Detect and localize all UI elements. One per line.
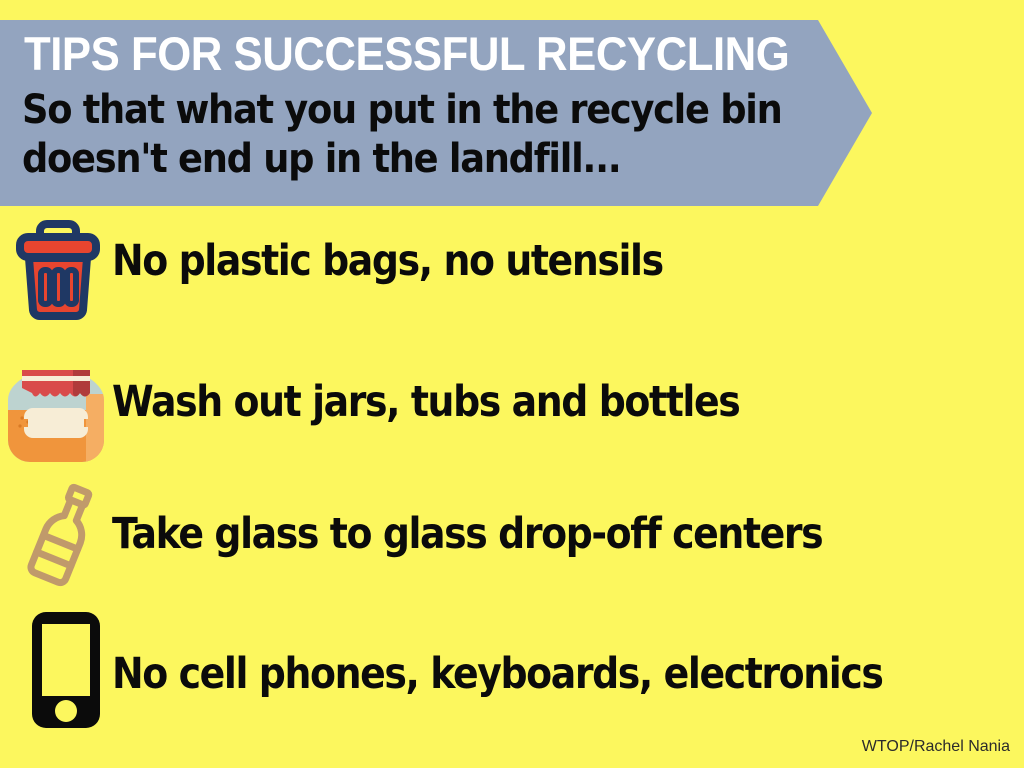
page-subtitle: So that what you put in the recycle bin … — [22, 86, 782, 184]
tip-item: Wash out jars, tubs and bottles — [0, 348, 1024, 468]
page-title: TIPS FOR SUCCESSFUL RECYCLING — [24, 26, 789, 82]
recycling-tips-infographic: TIPS FOR SUCCESSFUL RECYCLING So that wh… — [0, 0, 1024, 768]
tip-item: No plastic bags, no utensils — [0, 215, 1024, 325]
tip-item: Take glass to glass drop-off centers — [0, 478, 1024, 588]
jam-jar-icon — [2, 354, 110, 471]
tip-label: No plastic bags, no utensils — [112, 235, 663, 287]
tip-item: No cell phones, keyboards, electronics — [0, 608, 1024, 733]
tip-label: No cell phones, keyboards, electronics — [112, 648, 883, 700]
photo-credit: WTOP/Rachel Nania — [862, 737, 1010, 756]
header-banner: TIPS FOR SUCCESSFUL RECYCLING So that wh… — [0, 20, 872, 206]
tip-label: Wash out jars, tubs and bottles — [112, 376, 739, 428]
glass-bottle-icon — [18, 481, 110, 594]
cell-phone-icon — [30, 610, 102, 735]
trash-can-icon — [16, 220, 100, 325]
tip-label: Take glass to glass drop-off centers — [112, 508, 822, 560]
